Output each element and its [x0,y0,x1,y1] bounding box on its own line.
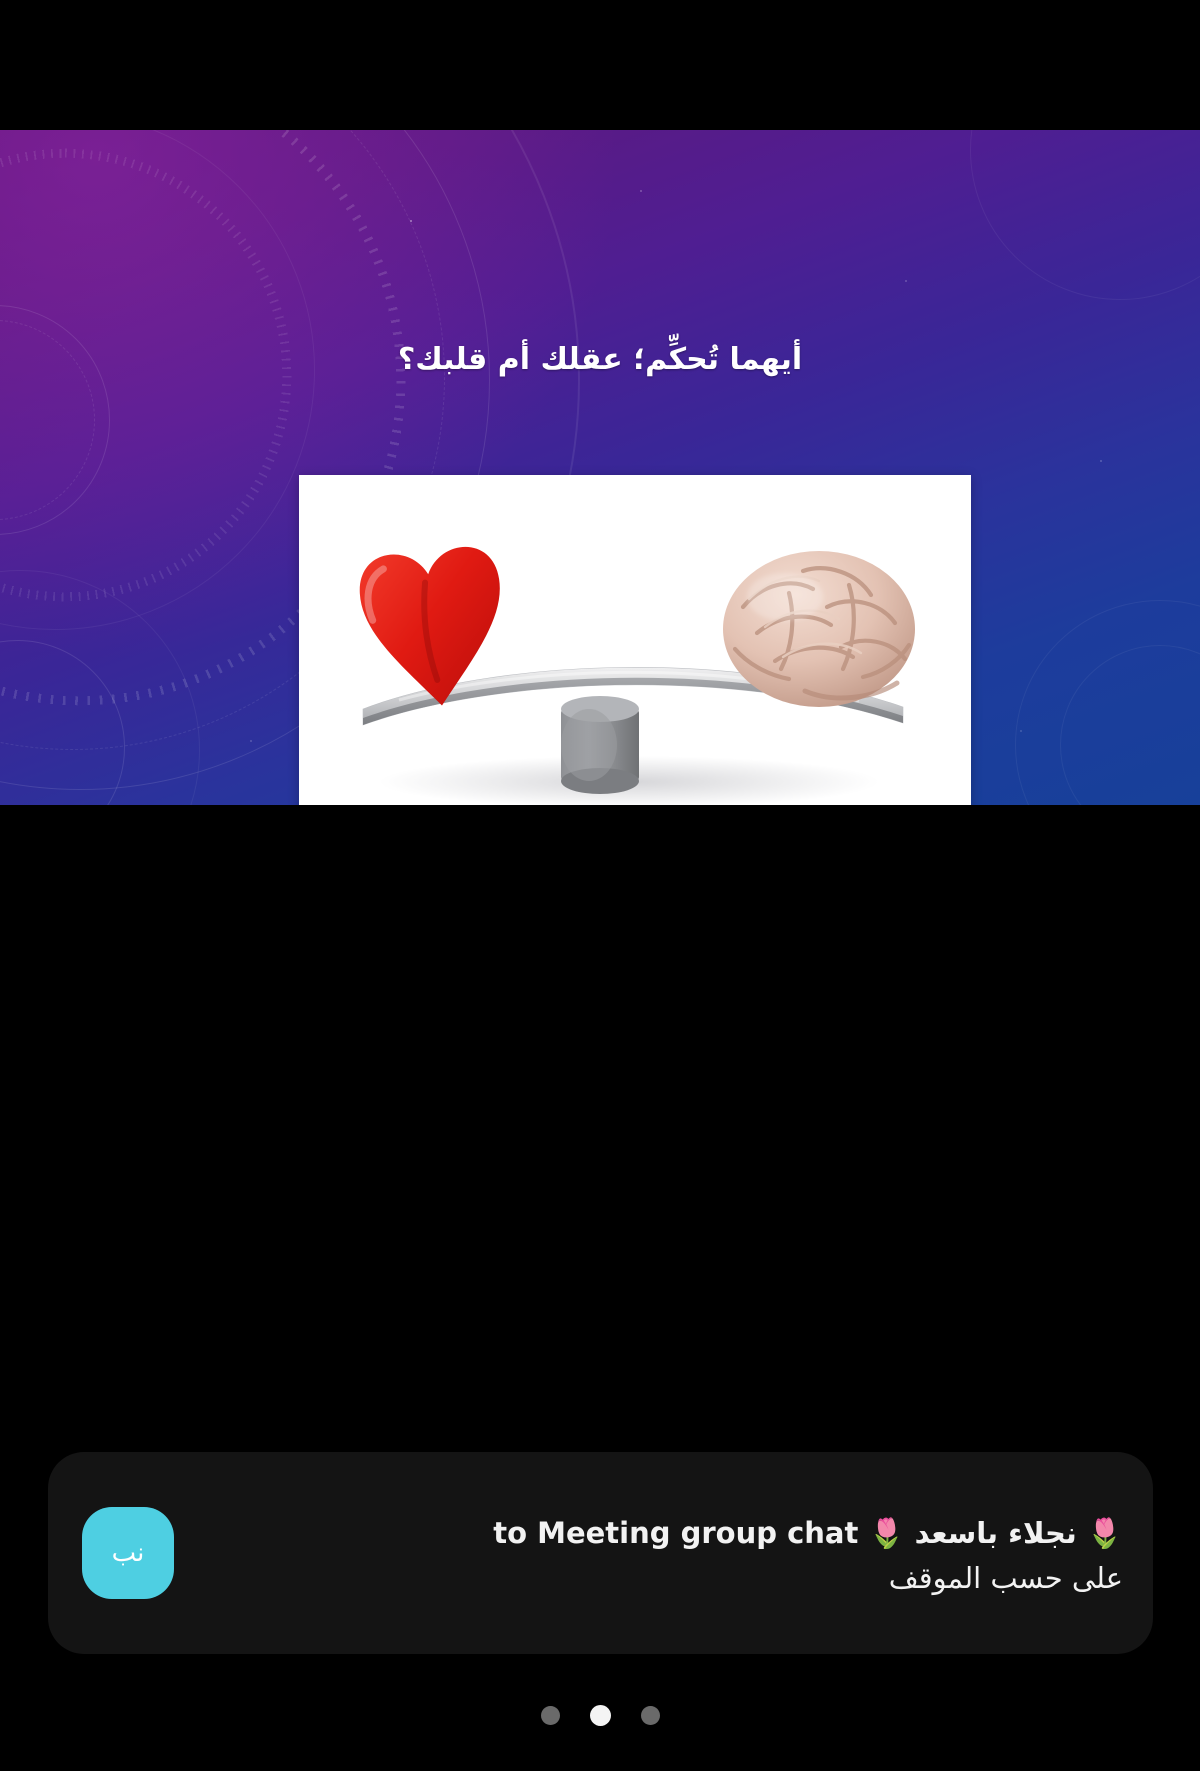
notification-body: 🌷 نجلاء باسعد 🌷 to Meeting group chat عل… [196,1512,1123,1595]
decorative-ring-bottomright2 [1060,645,1200,805]
decorative-speck [1100,460,1102,462]
decorative-speck [640,190,642,192]
slide-picture-panel [299,475,971,805]
decorative-speck [1020,730,1022,732]
notification-card[interactable]: نب 🌷 نجلاء باسعد 🌷 to Meeting group chat… [48,1452,1153,1654]
notification-message: على حسب الموقف [196,1561,1123,1595]
decorative-speck [250,740,252,742]
page-indicator [0,1705,1200,1726]
avatar[interactable]: نب [82,1507,174,1599]
decorative-ring-topright [970,130,1200,300]
presentation-slide[interactable]: أيهما تُحكِّم؛ عقلك أم قلبك؟ [0,130,1200,805]
page-dot-3[interactable] [641,1706,660,1725]
decorative-ring-lower-outer [0,570,200,805]
decorative-ring-inner [0,130,315,630]
slide-title: أيهما تُحكِّم؛ عقلك أم قلبك؟ [0,340,1200,379]
page-dot-1[interactable] [541,1706,560,1725]
decorative-speck [905,280,907,282]
decorative-ring-lower [0,640,125,805]
page-dot-2[interactable] [590,1705,611,1726]
heart-brain-balance-image [299,475,971,805]
decorative-ring-bottomright [1015,600,1200,805]
notification-title: 🌷 نجلاء باسعد 🌷 to Meeting group chat [196,1516,1123,1551]
decorative-speck [410,220,412,222]
phone-screen: أيهما تُحكِّم؛ عقلك أم قلبك؟ [0,0,1200,1771]
